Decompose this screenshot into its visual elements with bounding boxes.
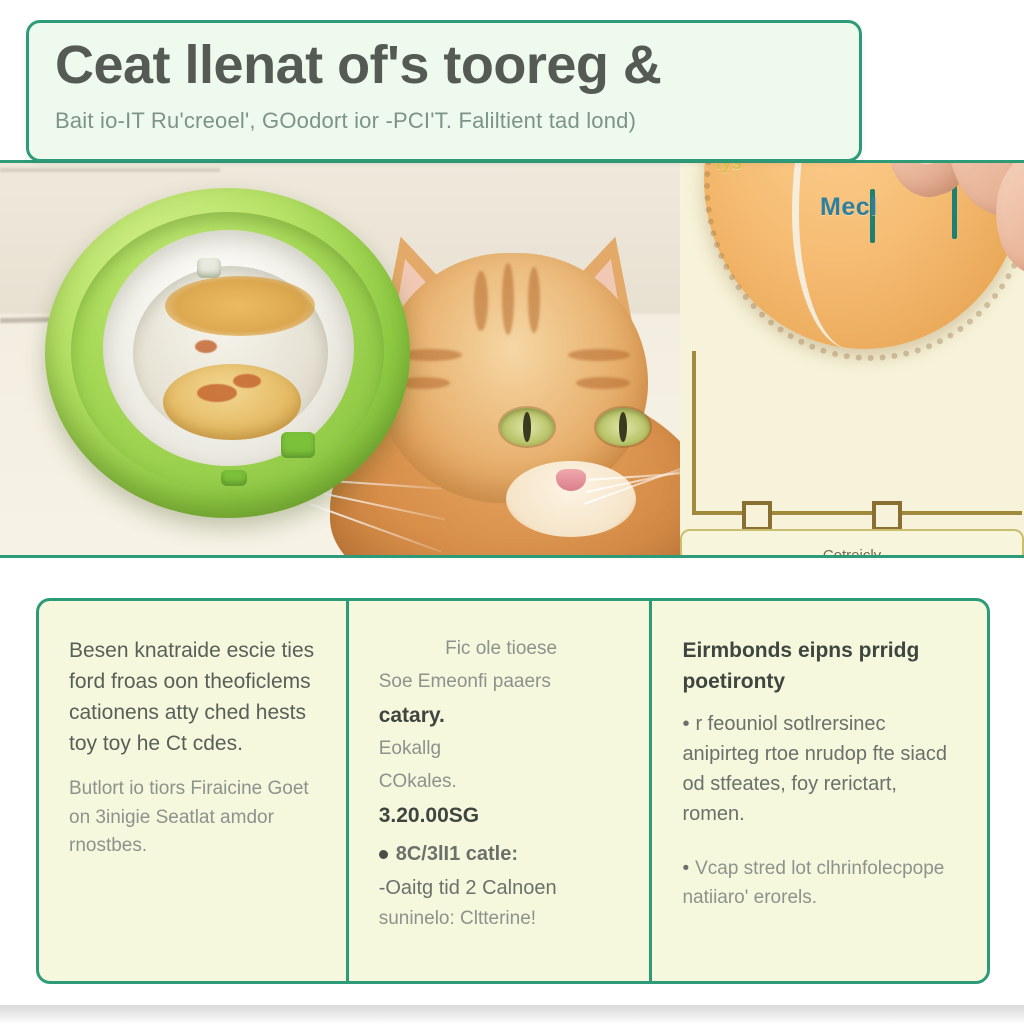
green-cat-feeder-bowl xyxy=(45,188,410,518)
column-three-bullet-1: r feouniol sotlrersinec anipirteg rtoe n… xyxy=(682,713,947,825)
disc-label-left-small: lys xyxy=(716,160,743,174)
hand-holding-disc xyxy=(876,160,1024,247)
column-two-bullet-line2: suninelo: Cltterine! xyxy=(379,905,624,934)
column-three-lead: Eirmbonds eipns prridg poetironty xyxy=(682,639,919,693)
column-two-bullet-line1: -Oaitg tid 2 Calnoen xyxy=(379,873,624,903)
bracket-node-left xyxy=(742,501,772,531)
column-two-line6: 3.20.00SG xyxy=(379,804,479,827)
column-two-bullet-title: 8C/3lI1 catle: xyxy=(396,843,518,865)
column-two-line4: Eokallg xyxy=(379,735,624,764)
callout-box: Cotreicly Fod pruedeia oes istarog line … xyxy=(680,529,1024,558)
hero-photo-band: Peircll Mecl ure lys Cotreicly Fod prued… xyxy=(0,160,1024,558)
dash-bullet-icon-2: • xyxy=(682,858,689,879)
header-card: Ceat llenat of's tooreg & Bait io-IT Ru'… xyxy=(26,20,862,162)
page-title: Ceat llenat of's tooreg & xyxy=(55,37,833,94)
column-two-line2: Soe Emeonfi paaers xyxy=(379,668,624,697)
column-two-line3: catary. xyxy=(379,704,445,727)
dash-bullet-icon-1: • xyxy=(682,713,689,735)
info-column-three: Eirmbonds eipns prridg poetironty •r feo… xyxy=(652,601,987,981)
feeder-latch-bottom xyxy=(221,470,247,486)
bottom-info-panel: Besen knatraide escie ties ford froas oo… xyxy=(36,598,990,984)
infographic-page: Peircll Mecl ure lys Cotreicly Fod prued… xyxy=(0,0,1024,1024)
cat-eye-right xyxy=(596,408,650,446)
column-two-line1: Fic ole tioese xyxy=(379,635,624,664)
column-two-line5: COkales. xyxy=(379,768,624,797)
disc-label-middle: Mecl xyxy=(820,193,878,222)
column-three-bullet-2: Vcap stred lot clhrinfolecpope natiiaro'… xyxy=(682,858,944,908)
callout-title: Cotreicly xyxy=(700,547,1004,558)
food-residue xyxy=(165,276,315,336)
page-bottom-shadow xyxy=(0,1005,1024,1024)
column-one-sub: Butlort io tiors Firaicine Goet on 3inig… xyxy=(69,775,320,861)
feeder-latch-right xyxy=(281,432,315,458)
food-portion xyxy=(163,364,301,440)
feeder-tab-top xyxy=(197,258,221,278)
cat-head xyxy=(378,253,648,503)
page-subtitle: Bait io-IT Ru'creoel', GOodort ior -PCI'… xyxy=(55,108,833,134)
bracket-node-right xyxy=(872,501,902,531)
column-one-lead: Besen knatraide escie ties ford froas oo… xyxy=(69,635,320,759)
info-column-two: Fic ole tioese Soe Emeonfi paaers catary… xyxy=(346,601,653,981)
diagram-pane: Peircll Mecl ure lys xyxy=(680,160,1024,555)
cat-eye-left xyxy=(500,408,554,446)
bullet-dot-icon xyxy=(379,850,388,859)
info-column-one: Besen knatraide escie ties ford froas oo… xyxy=(39,601,346,981)
wall-seam-upper xyxy=(0,168,220,172)
bracket-leg-left xyxy=(692,351,696,511)
